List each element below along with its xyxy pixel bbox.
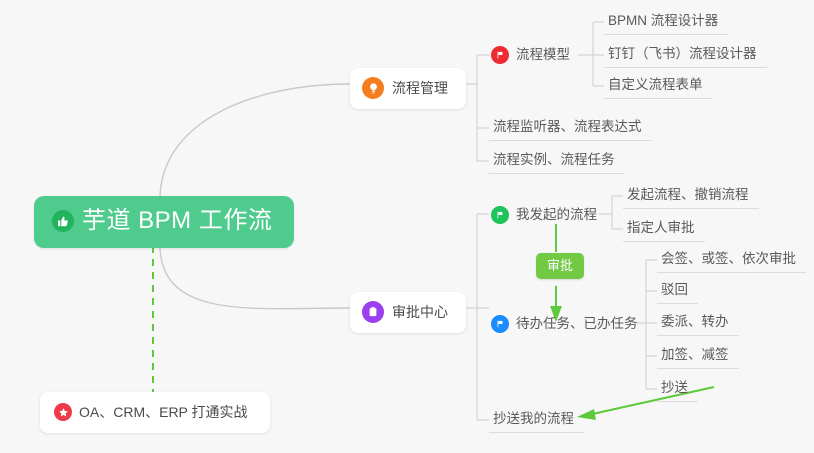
flag-icon	[491, 206, 509, 224]
floating-note-label: OA、CRM、ERP 打通实战	[79, 405, 248, 419]
subnode-process-model[interactable]: 流程模型	[489, 41, 580, 70]
leaf-label-start-cancel-flow: 发起流程、撤销流程	[627, 188, 749, 202]
subnode-label-todo-done-tasks: 待办任务、已办任务	[516, 317, 638, 331]
flag-icon	[491, 315, 509, 333]
lightbulb-icon	[362, 77, 384, 99]
subnode-listener-expression[interactable]: 流程监听器、流程表达式	[489, 115, 652, 141]
edge-root-to-process-management	[160, 84, 350, 196]
leaf-node-designated-approver[interactable]: 指定人审批	[623, 216, 705, 242]
root-node[interactable]: 芋道 BPM 工作流	[34, 196, 294, 248]
leaf-label-add-remove-sign: 加签、减签	[661, 348, 729, 362]
root-node-label: 芋道 BPM 工作流	[82, 209, 272, 233]
subnode-todo-done-tasks[interactable]: 待办任务、已办任务	[489, 310, 648, 339]
leaf-node-countersign[interactable]: 会签、或签、依次审批	[657, 247, 806, 273]
leaf-node-add-remove-sign[interactable]: 加签、减签	[657, 343, 739, 369]
subnode-instance-task[interactable]: 流程实例、流程任务	[489, 148, 625, 174]
leaf-node-dingtalk-designer[interactable]: 钉钉（飞书）流程设计器	[604, 42, 767, 68]
leaf-label-dingtalk-designer: 钉钉（飞书）流程设计器	[608, 47, 757, 61]
floating-note-node[interactable]: OA、CRM、ERP 打通实战	[40, 392, 270, 433]
subnode-label-instance-task: 流程实例、流程任务	[493, 153, 615, 167]
leaf-node-start-cancel-flow[interactable]: 发起流程、撤销流程	[623, 183, 759, 209]
leaf-node-delegate-transfer[interactable]: 委派、转办	[657, 310, 739, 336]
leaf-label-custom-form: 自定义流程表单	[608, 78, 703, 92]
edge-model-spine	[578, 22, 604, 86]
approval-tag-node[interactable]: 审批	[536, 253, 584, 279]
leaf-label-bpmn-designer: BPMN 流程设计器	[608, 14, 718, 28]
leaf-node-custom-form[interactable]: 自定义流程表单	[604, 73, 713, 99]
subnode-label-cc-my-flows: 抄送我的流程	[493, 412, 574, 426]
edge-ac-spine	[463, 214, 489, 420]
subnode-cc-my-flows[interactable]: 抄送我的流程	[489, 407, 584, 433]
flag-icon	[491, 46, 509, 64]
leaf-label-designated-approver: 指定人审批	[627, 221, 695, 235]
subnode-label-process-model: 流程模型	[516, 48, 570, 62]
subnode-label-listener-expression: 流程监听器、流程表达式	[493, 120, 642, 134]
branch-label-process-management: 流程管理	[392, 81, 448, 95]
leaf-node-bpmn-designer[interactable]: BPMN 流程设计器	[604, 9, 728, 35]
thumbs-up-icon	[52, 210, 74, 232]
edge-root-to-approval-center	[160, 248, 350, 309]
approval-tag-label: 审批	[547, 259, 573, 272]
star-icon	[54, 403, 72, 421]
subnode-my-started-flows[interactable]: 我发起的流程	[489, 201, 607, 230]
edge-pm-spine	[463, 55, 489, 161]
branch-node-approval-center[interactable]: 审批中心	[350, 292, 466, 333]
leaf-label-cc: 抄送	[661, 381, 688, 395]
branch-label-approval-center: 审批中心	[392, 305, 448, 319]
leaf-node-cc[interactable]: 抄送	[657, 376, 698, 402]
mindmap-canvas: 芋道 BPM 工作流 OA、CRM、ERP 打通实战 流程管理	[0, 0, 814, 453]
branch-node-process-management[interactable]: 流程管理	[350, 68, 466, 109]
subnode-label-my-started-flows: 我发起的流程	[516, 208, 597, 222]
leaf-label-reject: 驳回	[661, 283, 688, 297]
leaf-label-countersign: 会签、或签、依次审批	[661, 252, 796, 266]
leaf-label-delegate-transfer: 委派、转办	[661, 315, 729, 329]
clipboard-icon	[362, 301, 384, 323]
leaf-node-reject[interactable]: 驳回	[657, 278, 698, 304]
